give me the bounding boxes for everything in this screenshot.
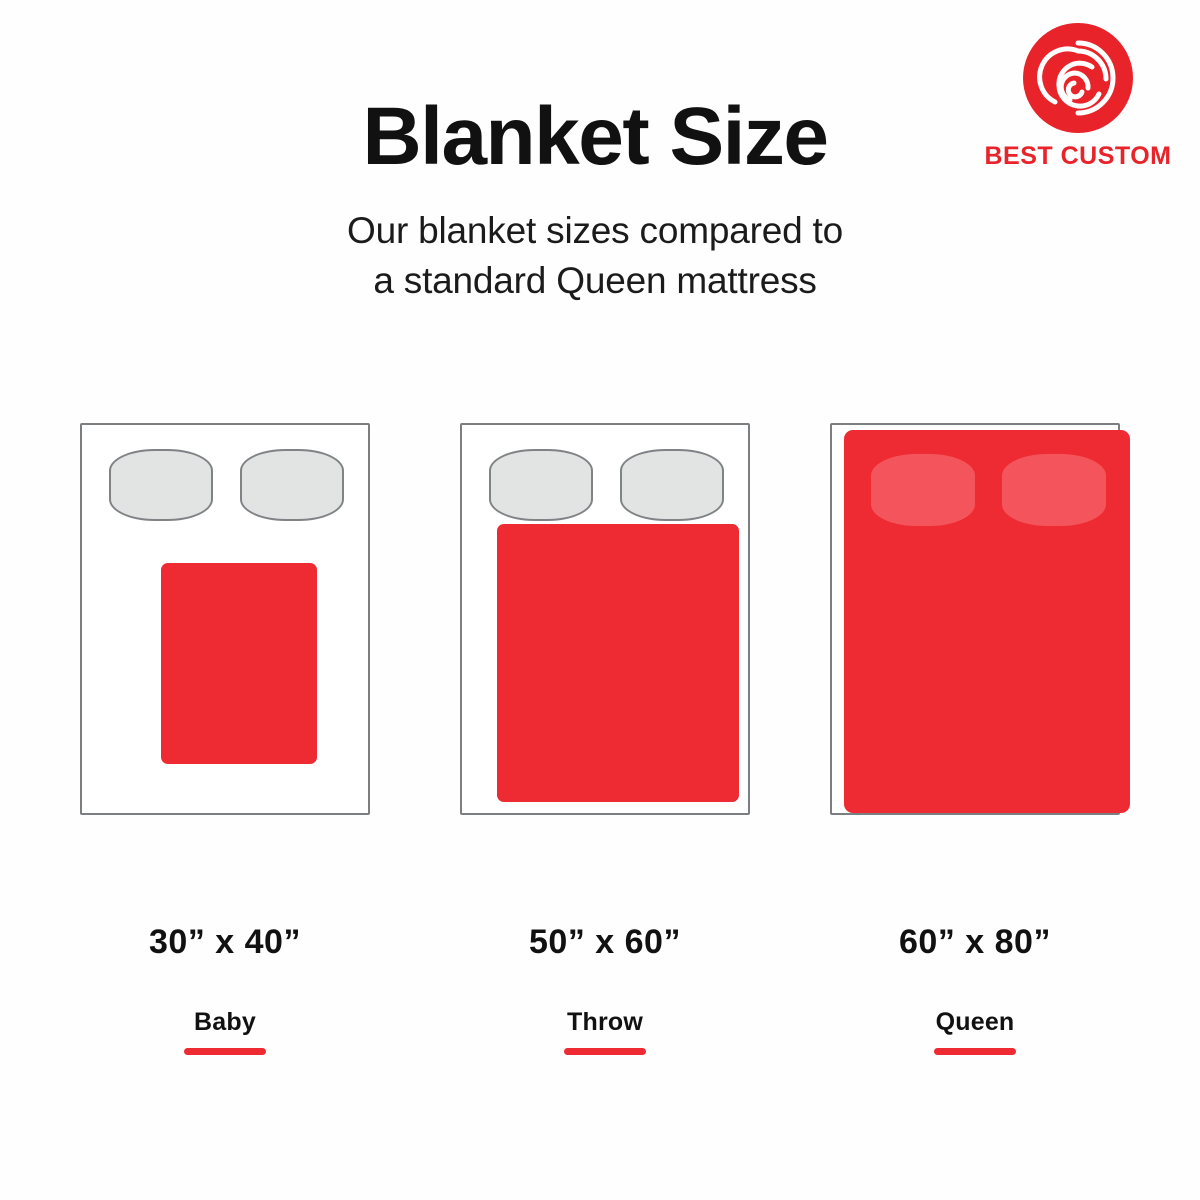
mattress-outline	[830, 423, 1120, 815]
blanket-name: Throw	[450, 1008, 760, 1037]
heading-block: Blanket Size Our blanket sizes compared …	[0, 96, 1200, 306]
blanket-swatch-throw	[497, 524, 739, 802]
pillow-left-icon	[109, 449, 213, 521]
comparison-card-baby: 30” x 40” Baby	[70, 423, 370, 1063]
page-title: Blanket Size	[0, 96, 1195, 178]
comparison-card-queen: 60” x 80” Queen	[820, 423, 1120, 1063]
pillow-left-icon	[489, 449, 593, 521]
blanket-name: Baby	[70, 1008, 380, 1037]
blanket-dimensions: 60” x 80”	[820, 923, 1130, 962]
blanket-swatch-baby	[161, 563, 317, 764]
label-block-baby: 30” x 40” Baby	[70, 923, 380, 1055]
accent-underline	[564, 1048, 646, 1055]
infographic-canvas: BEST CUSTOM Blanket Size Our blanket siz…	[0, 0, 1200, 1200]
page-subtitle: Our blanket sizes compared to a standard…	[0, 206, 1195, 306]
pillow-right-icon	[620, 449, 724, 521]
label-block-queen: 60” x 80” Queen	[820, 923, 1130, 1055]
accent-underline	[184, 1048, 266, 1055]
pillow-right-icon	[1002, 454, 1106, 526]
blanket-dimensions: 30” x 40”	[70, 923, 380, 962]
blanket-swatch-queen	[844, 430, 1130, 813]
comparison-card-throw: 50” x 60” Throw	[450, 423, 750, 1063]
accent-underline	[934, 1048, 1016, 1055]
blanket-name: Queen	[820, 1008, 1130, 1037]
bed-comparison-row: 30” x 40” Baby 50” x 60” Throw	[0, 423, 1200, 1063]
blanket-dimensions: 50” x 60”	[450, 923, 760, 962]
subtitle-line-2: a standard Queen mattress	[373, 260, 816, 301]
pillow-right-icon	[240, 449, 344, 521]
mattress-outline	[80, 423, 370, 815]
pillow-left-icon	[871, 454, 975, 526]
mattress-outline	[460, 423, 750, 815]
label-block-throw: 50” x 60” Throw	[450, 923, 760, 1055]
subtitle-line-1: Our blanket sizes compared to	[347, 210, 843, 251]
